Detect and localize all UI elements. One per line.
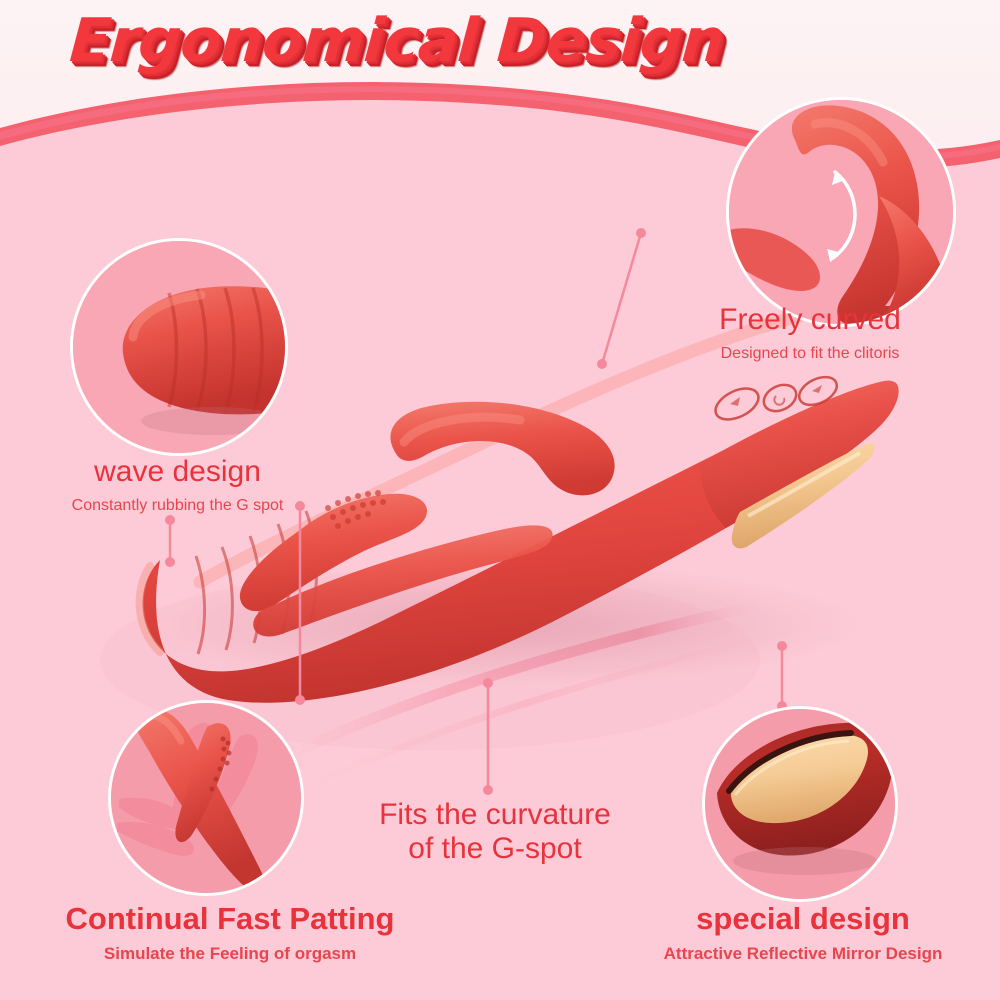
callout-circle-freely-curved (726, 97, 956, 327)
callout-circle-patting (108, 700, 304, 896)
feature-title: wave design (0, 455, 355, 489)
connector-dot-bottom (597, 359, 607, 369)
callout-circle-special-design (702, 706, 898, 902)
callout-circle-wave-design (70, 238, 288, 456)
feature-title-line2: of the G-spot (330, 832, 660, 866)
feature-label-fits-curvature: Fits the curvature of the G-spot (330, 798, 660, 865)
feature-subtitle: Attractive Reflective Mirror Design (608, 944, 998, 964)
feature-label-special-design: special design Attractive Reflective Mir… (608, 902, 998, 964)
feature-title: Freely curved (620, 303, 1000, 337)
feature-subtitle: Simulate the Feeling of orgasm (10, 944, 450, 964)
feature-label-freely-curved: Freely curved Designed to fit the clitor… (620, 303, 1000, 363)
feature-title-line1: Fits the curvature (330, 798, 660, 832)
ribbed-tip-icon (73, 241, 285, 453)
feature-subtitle: Constantly rubbing the G spot (0, 496, 355, 515)
feature-label-continual-fast-patting: Continual Fast Patting Simulate the Feel… (10, 902, 450, 964)
mirror-panel-icon (705, 709, 895, 899)
connector-dot-top (636, 228, 646, 238)
feature-label-wave-design: wave design Constantly rubbing the G spo… (0, 455, 355, 515)
feature-subtitle: Designed to fit the clitoris (620, 344, 1000, 363)
curved-arm-icon (729, 100, 953, 324)
feature-title: special design (608, 902, 998, 937)
infographic-poster: Ergonomical Design (0, 0, 1000, 1000)
feature-title: Continual Fast Patting (10, 902, 450, 937)
patting-arm-icon (111, 703, 301, 893)
